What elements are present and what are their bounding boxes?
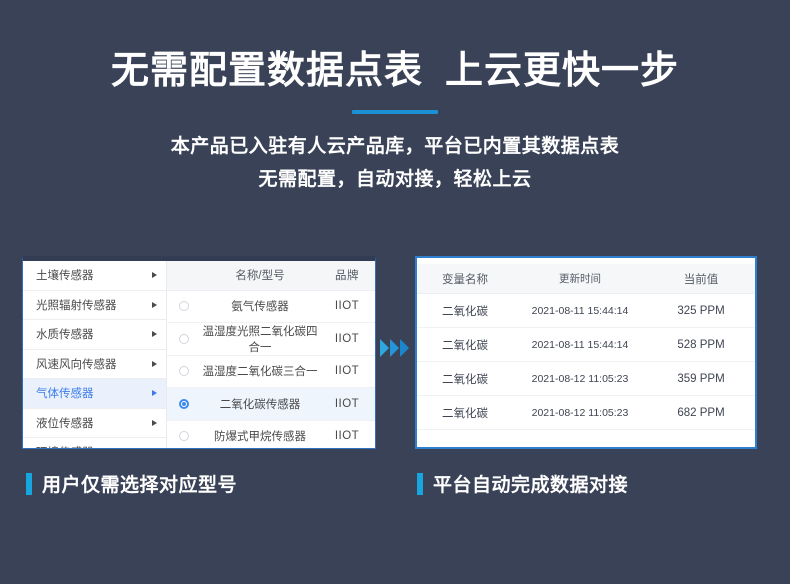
- row-updated: 2021-08-11 15:44:14: [513, 305, 647, 317]
- promo-page: 无需配置数据点表上云更快一步 本产品已入驻有人云产品库，平台已内置其数据点表 无…: [0, 0, 790, 584]
- row-value: 528 PPM: [647, 339, 755, 351]
- caption-left: 用户仅需选择对应型号: [26, 470, 237, 497]
- table-row[interactable]: 氨气传感器 IIOT: [167, 291, 375, 324]
- radio-icon[interactable]: [179, 301, 189, 311]
- page-title-part1: 无需配置数据点表: [111, 50, 423, 92]
- table-row: 二氧化碳 2021-08-12 11:05:23 682 PPM: [417, 396, 755, 430]
- chevron-right-icon-1: [380, 339, 389, 357]
- row-updated: 2021-08-12 11:05:23: [513, 373, 647, 385]
- sidebar-item-6[interactable]: 环境传感器: [23, 438, 166, 449]
- triple-chevron-right-icon: [380, 339, 409, 357]
- table-row[interactable]: 温湿度光照二氧化碳四合一 IIOT: [167, 323, 375, 356]
- captions-row: 用户仅需选择对应型号 平台自动完成数据对接: [0, 470, 790, 510]
- chevron-right-icon: [152, 420, 157, 426]
- row-variable: 二氧化碳: [417, 405, 513, 421]
- row-value: 359 PPM: [647, 373, 755, 385]
- chevron-right-icon-3: [400, 339, 409, 357]
- row-value: 325 PPM: [647, 305, 755, 317]
- chevron-right-icon: [152, 331, 157, 337]
- row-name: 防爆式甲烷传感器: [201, 428, 319, 444]
- row-brand: IIOT: [319, 398, 375, 410]
- row-variable: 二氧化碳: [417, 303, 513, 319]
- sidebar-item-1[interactable]: 光照辐射传感器: [23, 291, 166, 321]
- row-radio-cell[interactable]: [167, 431, 201, 441]
- row-radio-cell[interactable]: [167, 301, 201, 311]
- row-name: 温湿度光照二氧化碳四合一: [201, 323, 319, 355]
- row-variable: 二氧化碳: [417, 337, 513, 353]
- sidebar-item-label-2: 水质传感器: [36, 326, 94, 342]
- column-header-value: 当前值: [647, 271, 755, 287]
- sidebar-item-label-5: 液位传感器: [36, 415, 94, 431]
- column-header-updated: 更新时间: [513, 271, 647, 286]
- sidebar-item-label-3: 风速风向传感器: [36, 356, 117, 372]
- subtitle-line-1: 本产品已入驻有人云产品库，平台已内置其数据点表: [0, 130, 790, 163]
- row-variable: 二氧化碳: [417, 371, 513, 387]
- row-brand: IIOT: [319, 300, 375, 312]
- sidebar-item-label-1: 光照辐射传感器: [36, 297, 117, 313]
- table-row: 二氧化碳 2021-08-11 15:44:14 325 PPM: [417, 294, 755, 328]
- page-title: 无需配置数据点表上云更快一步: [0, 46, 790, 96]
- row-radio-cell[interactable]: [167, 366, 201, 376]
- chevron-right-icon: [152, 302, 157, 308]
- page-subtitle: 本产品已入驻有人云产品库，平台已内置其数据点表 无需配置，自动对接，轻松上云: [0, 130, 790, 196]
- caption-bar-icon: [417, 473, 423, 495]
- product-table-header: 名称/型号 品牌: [167, 261, 375, 291]
- caption-right-text: 平台自动完成数据对接: [433, 470, 628, 497]
- row-brand: IIOT: [319, 430, 375, 442]
- chevron-right-icon: [152, 272, 157, 278]
- caption-right: 平台自动完成数据对接: [417, 470, 628, 497]
- radio-selected-icon[interactable]: [179, 399, 189, 409]
- data-table-header: 变量名称 更新时间 当前值: [417, 264, 755, 294]
- panels-row: 土壤传感器 光照辐射传感器 水质传感器 风速风向传感器 气体传感器: [0, 256, 790, 466]
- row-radio-cell[interactable]: [167, 334, 201, 344]
- column-header-variable: 变量名称: [417, 271, 513, 287]
- sidebar-item-3[interactable]: 风速风向传感器: [23, 350, 166, 380]
- table-row: 二氧化碳 2021-08-11 15:44:14 528 PPM: [417, 328, 755, 362]
- category-sidebar[interactable]: 土壤传感器 光照辐射传感器 水质传感器 风速风向传感器 气体传感器: [23, 261, 167, 448]
- radio-icon[interactable]: [179, 366, 189, 376]
- sidebar-item-4-active[interactable]: 气体传感器: [23, 379, 166, 409]
- sidebar-item-label-0: 土壤传感器: [36, 267, 94, 283]
- row-name: 氨气传感器: [201, 298, 319, 314]
- subtitle-line-2: 无需配置，自动对接，轻松上云: [0, 163, 790, 196]
- chevron-right-icon: [152, 390, 157, 396]
- row-updated: 2021-08-12 11:05:23: [513, 407, 647, 419]
- page-header: 无需配置数据点表上云更快一步 本产品已入驻有人云产品库，平台已内置其数据点表 无…: [0, 0, 790, 196]
- row-name: 温湿度二氧化碳三合一: [201, 363, 319, 379]
- row-radio-cell[interactable]: [167, 399, 201, 409]
- radio-icon[interactable]: [179, 431, 189, 441]
- row-value: 682 PPM: [647, 407, 755, 419]
- product-selector-panel: 土壤传感器 光照辐射传感器 水质传感器 风速风向传感器 气体传感器: [22, 256, 376, 449]
- chevron-right-icon-2: [390, 339, 399, 357]
- row-updated: 2021-08-11 15:44:14: [513, 339, 647, 351]
- table-row-selected[interactable]: 二氧化碳传感器 IIOT: [167, 388, 375, 421]
- caption-left-text: 用户仅需选择对应型号: [42, 470, 237, 497]
- sidebar-item-5[interactable]: 液位传感器: [23, 409, 166, 439]
- page-title-part2: 上云更快一步: [445, 50, 679, 92]
- table-row[interactable]: 防爆式甲烷传感器 IIOT: [167, 421, 375, 450]
- sidebar-item-label-4: 气体传感器: [36, 385, 94, 401]
- sidebar-item-2[interactable]: 水质传感器: [23, 320, 166, 350]
- table-row[interactable]: 温湿度二氧化碳三合一 IIOT: [167, 356, 375, 389]
- data-points-panel: 变量名称 更新时间 当前值 二氧化碳 2021-08-11 15:44:14 3…: [415, 256, 757, 449]
- sidebar-item-label-6: 环境传感器: [36, 444, 94, 449]
- radio-icon[interactable]: [179, 334, 189, 344]
- row-name: 二氧化碳传感器: [201, 396, 319, 412]
- caption-bar-icon: [26, 473, 32, 495]
- title-underline: [352, 110, 438, 114]
- column-header-name: 名称/型号: [201, 267, 319, 283]
- column-header-brand: 品牌: [319, 267, 375, 283]
- row-brand: IIOT: [319, 365, 375, 377]
- chevron-right-icon: [152, 361, 157, 367]
- row-brand: IIOT: [319, 333, 375, 345]
- table-row: 二氧化碳 2021-08-12 11:05:23 359 PPM: [417, 362, 755, 396]
- product-table: 名称/型号 品牌 氨气传感器 IIOT 温湿度光照二氧化碳四合一 IIOT 温湿…: [167, 261, 375, 448]
- sidebar-item-0[interactable]: 土壤传感器: [23, 261, 166, 291]
